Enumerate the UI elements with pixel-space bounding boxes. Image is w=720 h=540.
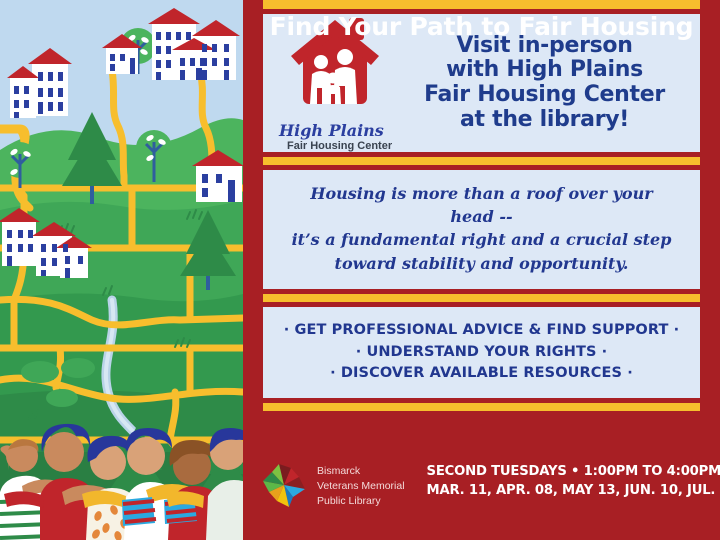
schedule-line-2: MAR. 11, APR. 08, MAY 13, JUN. 10, JUL. … (427, 482, 720, 501)
benefits-panel: · GET PROFESSIONAL ADVICE & FIND SUPPORT… (263, 307, 700, 398)
benefit-item: · DISCOVER AVAILABLE RESOURCES · (273, 363, 690, 385)
headline-line-3: Fair Housing Center (399, 83, 690, 108)
page-title: Find Your Path to Fair Housing (243, 0, 720, 52)
divider-gold-3 (263, 294, 700, 302)
library-name: Bismarck Veterans Memorial Public Librar… (317, 462, 405, 509)
quote-panel: Housing is more than a roof over your he… (263, 170, 700, 289)
schedule-line-1: SECOND TUESDAYS • 1:00PM TO 4:00PM (427, 463, 720, 482)
library-name-line-2: Veterans Memorial (317, 479, 405, 494)
poster: Find Your Path to Fair Housing (0, 0, 720, 540)
quote-line-2: it’s a fundamental right and a crucial s… (289, 228, 674, 251)
quote-line-1: Housing is more than a roof over your he… (289, 182, 674, 228)
striped-sleeve (122, 497, 156, 526)
library-name-line-3: Public Library (317, 494, 405, 509)
neighborhood-illustration (0, 0, 243, 540)
illustration-svg (0, 0, 243, 540)
page-title-text: Find Your Path to Fair Housing (270, 12, 694, 41)
library-logo (261, 462, 309, 508)
content-column: Find Your Path to Fair Housing (243, 0, 720, 540)
pinwheel-star-icon (261, 462, 307, 508)
headline-line-4: at the library! (399, 108, 690, 133)
divider-gold-2 (263, 157, 700, 165)
divider-gold-bottom (263, 403, 700, 411)
benefit-item: · GET PROFESSIONAL ADVICE & FIND SUPPORT… (273, 320, 690, 342)
logo-sub-text: Fair Housing Center (287, 140, 393, 152)
logo-script-text: High Plains (278, 121, 384, 140)
quote-line-3: toward stability and opportunity. (289, 252, 674, 275)
benefit-item: · UNDERSTAND YOUR RIGHTS · (273, 342, 690, 364)
high-plains-wordmark: High Plains Fair Housing Center (277, 120, 393, 154)
library-name-line-1: Bismarck (317, 464, 405, 479)
headline-line-2: with High Plains (399, 58, 690, 83)
footer: Bismarck Veterans Memorial Public Librar… (243, 448, 720, 540)
schedule: SECOND TUESDAYS • 1:00PM TO 4:00PM MAR. … (427, 462, 720, 500)
